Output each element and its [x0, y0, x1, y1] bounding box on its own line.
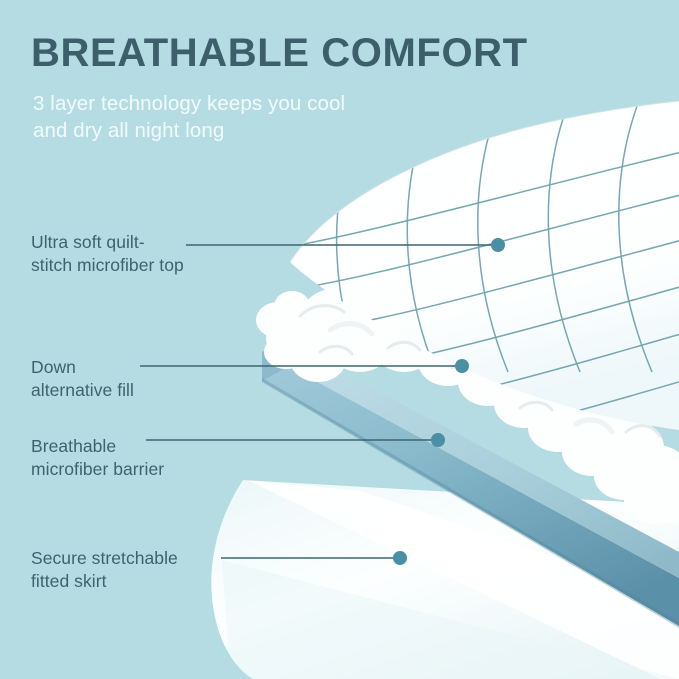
leader-dot-quilt-top — [491, 238, 505, 252]
infographic-canvas: BREATHABLE COMFORT 3 layer technology ke… — [0, 0, 679, 679]
page-title: BREATHABLE COMFORT — [31, 33, 528, 73]
leader-dot-fitted-skirt — [393, 551, 407, 565]
callout-label-fitted-skirt: Secure stretchable fitted skirt — [31, 547, 178, 593]
callout-label-quilt-top: Ultra soft quilt- stitch microfiber top — [31, 231, 184, 277]
leader-dot-down-alternative-fill — [455, 359, 469, 373]
page-subtitle: 3 layer technology keeps you cool and dr… — [33, 90, 345, 145]
leader-dot-microfiber-barrier — [431, 433, 445, 447]
callout-label-down-alternative-fill: Down alternative fill — [31, 356, 134, 402]
callout-label-microfiber-barrier: Breathable microfiber barrier — [31, 435, 164, 481]
